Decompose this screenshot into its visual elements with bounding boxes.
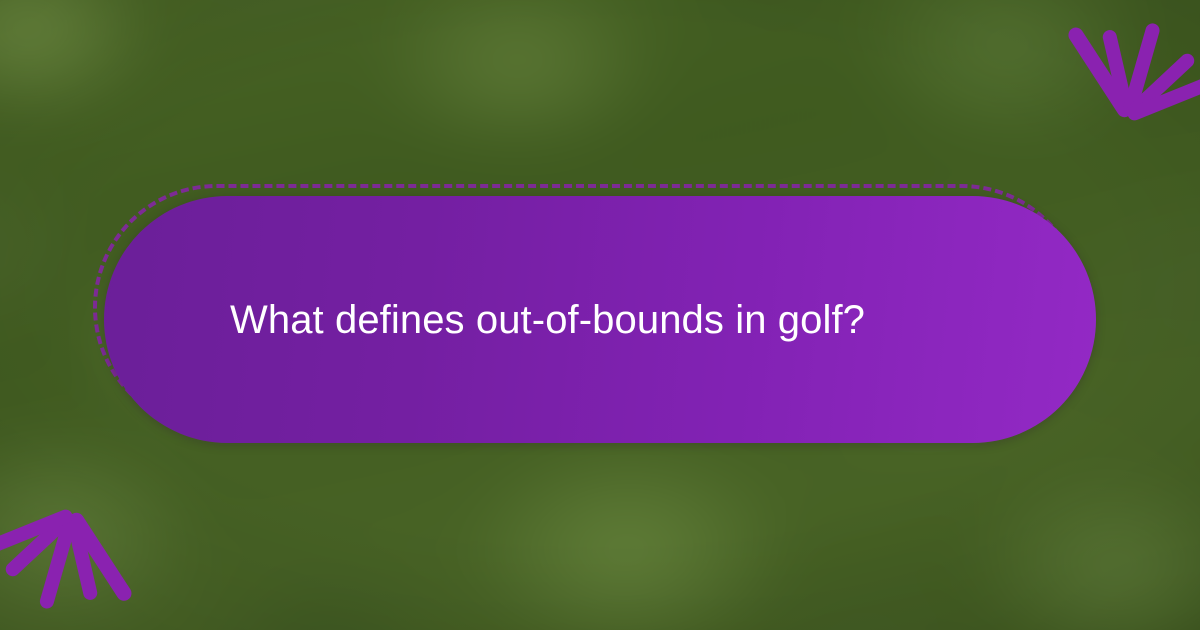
card-body: What defines out-of-bounds in golf? <box>104 196 1096 443</box>
question-card[interactable]: What defines out-of-bounds in golf? <box>104 196 1096 443</box>
question-card-canvas: What defines out-of-bounds in golf? <box>0 0 1200 630</box>
question-text: What defines out-of-bounds in golf? <box>104 297 935 343</box>
